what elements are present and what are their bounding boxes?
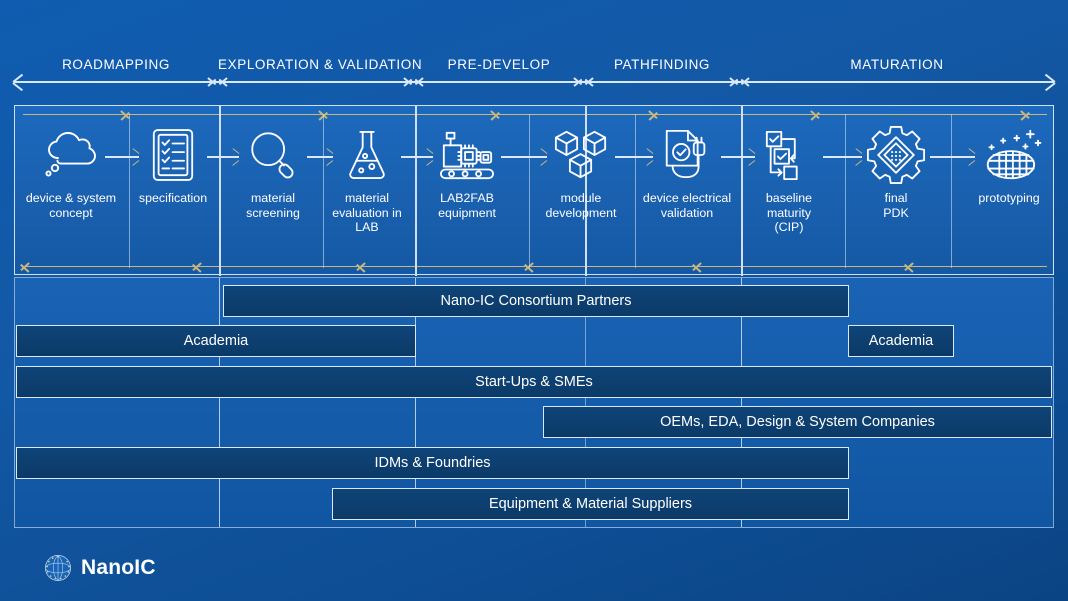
- flow-chevron-forward-icon: [1021, 106, 1033, 124]
- process-step-label: device & system concept: [26, 191, 116, 220]
- stakeholder-bar-nano-ic-consortium-partners[interactable]: Nano-IC Consortium Partners: [223, 285, 849, 317]
- stakeholder-bar-idms-foundries[interactable]: IDMs & Foundries: [16, 447, 849, 479]
- step-divider: [635, 114, 636, 268]
- process-step-checklist-document[interactable]: specification: [125, 124, 221, 206]
- process-step-wafer-sparkle[interactable]: prototyping: [961, 124, 1057, 206]
- process-step-magnifier[interactable]: material screening: [225, 124, 321, 220]
- process-step-conveyor-chip[interactable]: LAB2FAB equipment: [419, 124, 515, 220]
- cubes-icon: [550, 124, 612, 186]
- timeline-left-arrowhead-icon: [13, 73, 27, 91]
- phase-separator-icon: [208, 72, 228, 92]
- process-step-label: material evaluation in LAB: [332, 191, 402, 235]
- nanoic-logo: NanoIC: [44, 554, 156, 582]
- process-step-label: specification: [139, 191, 207, 206]
- step-divider: [529, 114, 530, 268]
- stakeholder-bar-equipment-material-suppliers[interactable]: Equipment & Material Suppliers: [332, 488, 849, 520]
- process-step-label: prototyping: [978, 191, 1039, 206]
- process-step-label: LAB2FAB equipment: [438, 191, 496, 220]
- feedback-flow-track: [23, 266, 1047, 267]
- process-step-label: baseline maturity (CIP): [766, 191, 812, 235]
- checklist-flow-icon: [761, 124, 817, 186]
- wafer-sparkle-icon: [970, 124, 1048, 186]
- stakeholder-bar-start-ups-smes[interactable]: Start-Ups & SMEs: [16, 366, 1052, 398]
- globe-stars-icon: [44, 554, 72, 582]
- timeline-right-arrowhead-icon: [1041, 73, 1055, 91]
- phase-label-maturation: MATURATION: [740, 57, 1054, 72]
- phase-separator-icon: [574, 72, 594, 92]
- flow-chevron-feedback-icon: [353, 258, 365, 276]
- flow-chevron-feedback-icon: [521, 258, 533, 276]
- stakeholder-bar-academia-right[interactable]: Academia: [848, 325, 954, 357]
- flask-icon: [342, 124, 392, 186]
- stakeholder-bar-oems-eda-design[interactable]: OEMs, EDA, Design & System Companies: [543, 406, 1052, 438]
- magnifier-icon: [245, 124, 301, 186]
- flow-chevron-feedback-icon: [689, 258, 701, 276]
- phase-separator-icon: [404, 72, 424, 92]
- conveyor-chip-icon: [435, 124, 499, 186]
- process-panel: device & system concept specification ma…: [14, 105, 1054, 275]
- process-step-cloud-thought[interactable]: device & system concept: [23, 124, 119, 220]
- phase-label-roadmapping: ROADMAPPING: [14, 57, 218, 72]
- phase-separator-icon: [730, 72, 750, 92]
- phase-label-pathfinding: PATHFINDING: [584, 57, 740, 72]
- process-step-cubes[interactable]: module development: [533, 124, 629, 220]
- step-divider: [951, 114, 952, 268]
- phase-timeline-track: [14, 81, 1054, 83]
- flow-chevron-forward-icon: [649, 106, 661, 124]
- phase-label-exploration-validation: EXPLORATION & VALIDATION: [218, 57, 414, 72]
- process-step-document-plug[interactable]: device electrical validation: [639, 124, 735, 220]
- diagram-canvas: ROADMAPPINGEXPLORATION & VALIDATIONPRE-D…: [0, 0, 1068, 601]
- forward-flow-track: [23, 114, 1047, 115]
- flow-chevron-feedback-icon: [189, 258, 201, 276]
- flow-chevron-forward-icon: [319, 106, 331, 124]
- step-divider: [845, 114, 846, 268]
- cloud-thought-icon: [40, 124, 102, 186]
- flow-chevron-forward-icon: [121, 106, 133, 124]
- process-step-flask[interactable]: material evaluation in LAB: [319, 124, 415, 235]
- flow-chevron-forward-icon: [811, 106, 823, 124]
- stakeholder-bar-academia-left[interactable]: Academia: [16, 325, 416, 357]
- checklist-document-icon: [149, 124, 197, 186]
- document-plug-icon: [655, 124, 719, 186]
- flow-chevron-feedback-icon: [901, 258, 913, 276]
- flow-chevron-forward-icon: [491, 106, 503, 124]
- process-step-label: material screening: [246, 191, 300, 220]
- process-step-label: module development: [546, 191, 617, 220]
- process-step-label: device electrical validation: [643, 191, 731, 220]
- nanoic-wordmark: NanoIC: [81, 556, 156, 580]
- process-step-checklist-flow[interactable]: baseline maturity (CIP): [741, 124, 837, 235]
- process-step-label: final PDK: [883, 191, 908, 220]
- process-step-gear-chip[interactable]: final PDK: [848, 124, 944, 220]
- stakeholder-phase-divider: [219, 278, 220, 527]
- flow-chevron-feedback-icon: [17, 258, 29, 276]
- gear-chip-icon: [865, 124, 927, 186]
- phase-divider: [415, 106, 417, 276]
- phase-label-pre-develop: PRE-DEVELOP: [414, 57, 584, 72]
